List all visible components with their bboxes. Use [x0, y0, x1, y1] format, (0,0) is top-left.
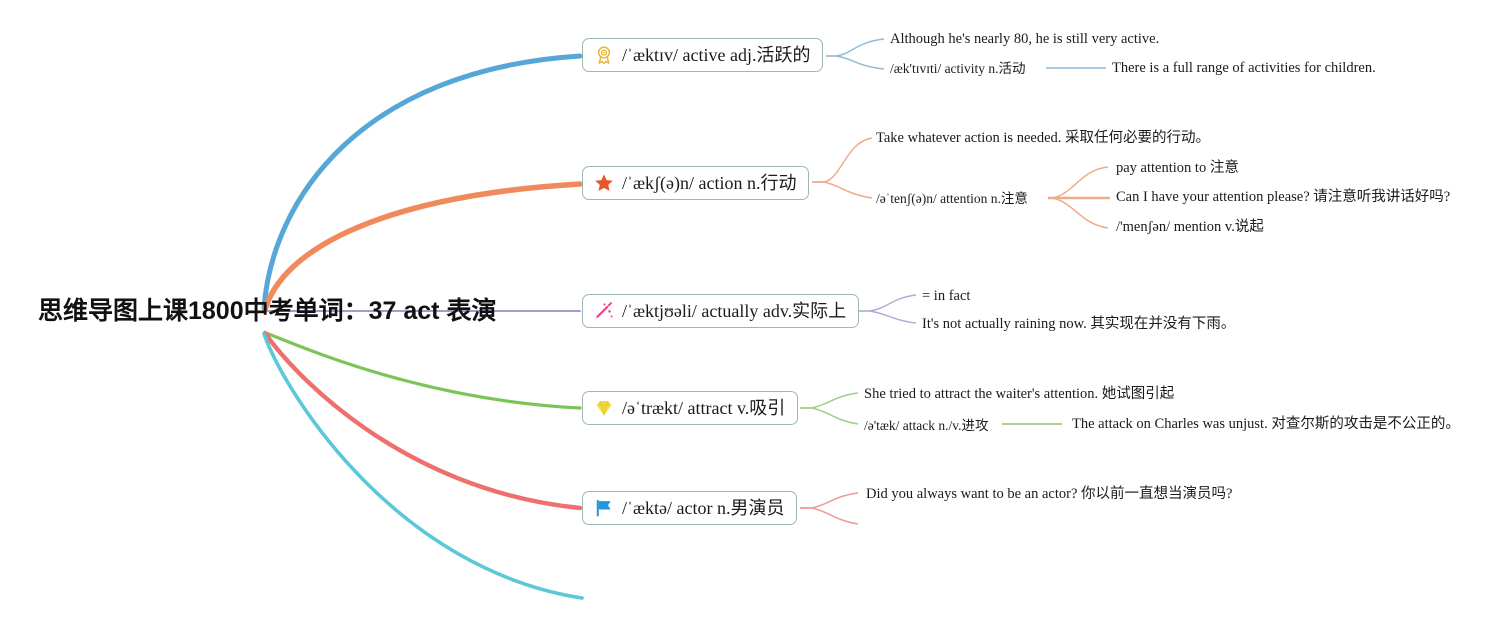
star-icon: [593, 172, 615, 194]
fork-actually-up: [870, 295, 916, 311]
branch-line-action: [265, 184, 580, 310]
topic-node-label: /ˈæktə/ actor n.男演员: [622, 498, 784, 518]
leaf-attention-example[interactable]: Can I have your attention please? 请注意听我讲…: [1116, 189, 1450, 206]
leaf-actually-example[interactable]: It's not actually raining now. 其实现在并没有下雨…: [922, 316, 1235, 333]
topic-node-active[interactable]: /ˈæktɪv/ active adj.活跃的: [582, 38, 823, 72]
sparkle-wand-icon: [593, 300, 615, 322]
topic-node-label: /ˈæktɪv/ active adj.活跃的: [622, 45, 810, 65]
leaf-attention-phrase[interactable]: pay attention to 注意: [1116, 160, 1239, 177]
branch-line-extra: [264, 334, 582, 598]
branch-line-active: [264, 56, 580, 308]
leaf-attention-word[interactable]: /əˈtenʃ(ə)n/ attention n.注意: [876, 190, 1028, 207]
branch-line-attract: [266, 333, 580, 408]
diamond-gem-icon: [593, 397, 615, 419]
topic-node-attract[interactable]: /əˈtrækt/ attract v.吸引: [582, 391, 798, 425]
leaf-mention-word[interactable]: /'menʃən/ mention v.说起: [1116, 219, 1264, 236]
leaf-attack-word[interactable]: /ə'tæk/ attack n./v.进攻: [864, 417, 989, 434]
flag-icon: [593, 497, 615, 519]
fork-action-up: [824, 138, 872, 182]
leaf-activity-example[interactable]: There is a full range of activities for …: [1112, 60, 1376, 77]
fork-attention-down: [1052, 198, 1108, 228]
fork-attract-down: [812, 408, 858, 424]
leaf-attack-example[interactable]: The attack on Charles was unjust. 对查尔斯的攻…: [1072, 416, 1460, 433]
fork-action-down: [824, 182, 872, 198]
medal-rosette-icon: [593, 44, 615, 66]
fork-attract-up: [812, 393, 858, 408]
leaf-activity-word[interactable]: /æk'tɪvɪti/ activity n.活动: [890, 60, 1026, 77]
topic-node-label: /ˈæktjʊəli/ actually adv.实际上: [622, 301, 846, 321]
mindmap-canvas: 思维导图上课1800中考单词：37 act 表演 /ˈæktɪv/ active…: [0, 0, 1510, 620]
fork-attention-up: [1052, 167, 1108, 198]
leaf-attract-example[interactable]: She tried to attract the waiter's attent…: [864, 386, 1174, 403]
fork-actor-down: [812, 508, 858, 524]
topic-node-actually[interactable]: /ˈæktjʊəli/ actually adv.实际上: [582, 294, 859, 328]
branch-line-actor: [265, 333, 580, 508]
leaf-actually-synonym[interactable]: = in fact: [922, 288, 970, 305]
fork-actor-up: [812, 493, 858, 508]
fork-active-down: [836, 56, 884, 69]
fork-active-up: [836, 39, 884, 56]
fork-actually-down: [870, 311, 916, 323]
topic-node-label: /əˈtrækt/ attract v.吸引: [622, 398, 785, 418]
leaf-active-example-1[interactable]: Although he's nearly 80, he is still ver…: [890, 31, 1159, 48]
leaf-actor-example[interactable]: Did you always want to be an actor? 你以前一…: [866, 486, 1232, 503]
topic-node-action[interactable]: /ˈækʃ(ə)n/ action n.行动: [582, 166, 809, 200]
topic-node-label: /ˈækʃ(ə)n/ action n.行动: [622, 173, 796, 193]
topic-node-actor[interactable]: /ˈæktə/ actor n.男演员: [582, 491, 797, 525]
root-topic-title[interactable]: 思维导图上课1800中考单词：37 act 表演: [38, 296, 496, 326]
leaf-action-example-1[interactable]: Take whatever action is needed. 采取任何必要的行…: [876, 130, 1210, 147]
